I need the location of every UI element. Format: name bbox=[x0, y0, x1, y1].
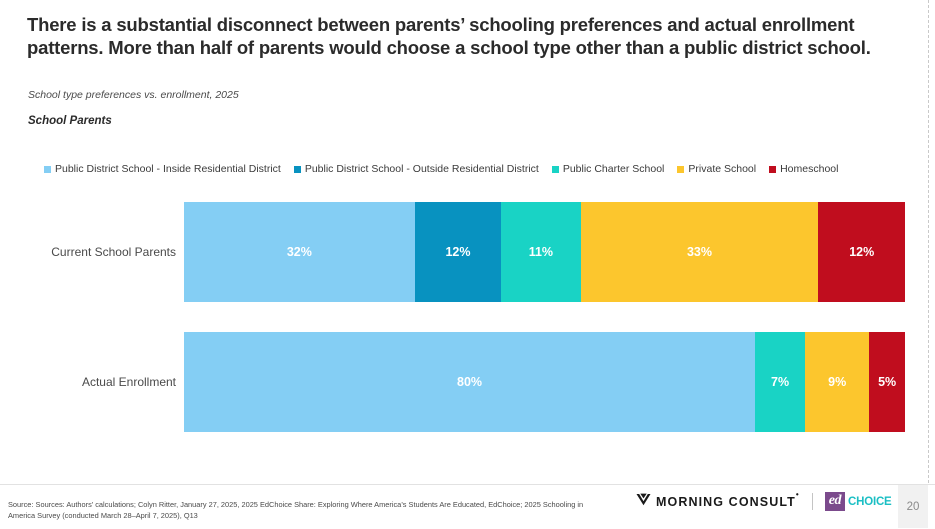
chevron-m-icon bbox=[636, 493, 651, 511]
legend-label: Public District School - Outside Residen… bbox=[305, 164, 539, 175]
brand-logos: MORNING CONSULT• ed CHOICE bbox=[636, 492, 892, 511]
bar-segment-value: 11% bbox=[529, 246, 553, 259]
chart-row-label: Actual Enrollment bbox=[0, 332, 176, 432]
legend-label: Public Charter School bbox=[563, 164, 665, 175]
legend-item[interactable]: Public Charter School bbox=[552, 164, 665, 175]
edchoice-logo: ed CHOICE bbox=[825, 492, 892, 511]
chart-legend: Public District School - Inside Resident… bbox=[44, 164, 906, 175]
bar-segment-value: 7% bbox=[771, 376, 789, 389]
legend-label: Public District School - Inside Resident… bbox=[55, 164, 281, 175]
chart-row-label: Current School Parents bbox=[0, 202, 176, 302]
bar-segment-value: 80% bbox=[457, 376, 482, 389]
chart-group-label: School Parents bbox=[28, 115, 112, 127]
bar-segment[interactable]: 80% bbox=[184, 332, 755, 432]
legend-item[interactable]: Homeschool bbox=[769, 164, 838, 175]
bar-segment[interactable]: 11% bbox=[501, 202, 580, 302]
morning-consult-wordmark: MORNING CONSULT• bbox=[656, 494, 800, 509]
edchoice-ed-mark: ed bbox=[825, 492, 845, 511]
legend-swatch-icon bbox=[677, 166, 684, 173]
page-title: There is a substantial disconnect betwee… bbox=[27, 13, 907, 60]
chart-row: Actual Enrollment80%7%9%5% bbox=[0, 332, 935, 432]
legend-swatch-icon bbox=[44, 166, 51, 173]
legend-swatch-icon bbox=[552, 166, 559, 173]
registered-mark-icon: • bbox=[796, 490, 800, 499]
legend-swatch-icon bbox=[294, 166, 301, 173]
bar-segment-value: 33% bbox=[687, 246, 712, 259]
bar-segment[interactable]: 7% bbox=[755, 332, 805, 432]
legend-label: Private School bbox=[688, 164, 756, 175]
legend-item[interactable]: Private School bbox=[677, 164, 756, 175]
bar-segment[interactable]: 32% bbox=[184, 202, 415, 302]
source-note: Source: Sources: Authors’ calculations; … bbox=[8, 500, 608, 521]
morning-consult-text: MORNING CONSULT bbox=[656, 495, 796, 509]
edchoice-choice-text: CHOICE bbox=[848, 496, 892, 508]
bar-segment-value: 5% bbox=[878, 376, 896, 389]
brand-divider bbox=[812, 493, 813, 510]
bar-segment[interactable]: 12% bbox=[415, 202, 502, 302]
legend-label: Homeschool bbox=[780, 164, 838, 175]
legend-item[interactable]: Public District School - Inside Resident… bbox=[44, 164, 281, 175]
legend-item[interactable]: Public District School - Outside Residen… bbox=[294, 164, 539, 175]
bar-segment[interactable]: 5% bbox=[869, 332, 905, 432]
morning-consult-logo: MORNING CONSULT• bbox=[636, 493, 800, 511]
bar-segment[interactable]: 33% bbox=[581, 202, 819, 302]
page-number: 20 bbox=[898, 485, 928, 528]
stacked-bar-chart: Current School Parents32%12%11%33%12%Act… bbox=[0, 196, 935, 464]
bar-segment-value: 12% bbox=[849, 246, 874, 259]
stacked-bar: 32%12%11%33%12% bbox=[184, 202, 905, 302]
bar-segment[interactable]: 12% bbox=[818, 202, 905, 302]
stacked-bar: 80%7%9%5% bbox=[184, 332, 905, 432]
legend-swatch-icon bbox=[769, 166, 776, 173]
chart-row: Current School Parents32%12%11%33%12% bbox=[0, 202, 935, 302]
bar-segment-value: 32% bbox=[287, 246, 312, 259]
bar-segment-value: 12% bbox=[445, 246, 470, 259]
chart-subtitle: School type preferences vs. enrollment, … bbox=[28, 89, 239, 101]
bar-segment[interactable]: 9% bbox=[805, 332, 869, 432]
bar-segment-value: 9% bbox=[828, 376, 846, 389]
